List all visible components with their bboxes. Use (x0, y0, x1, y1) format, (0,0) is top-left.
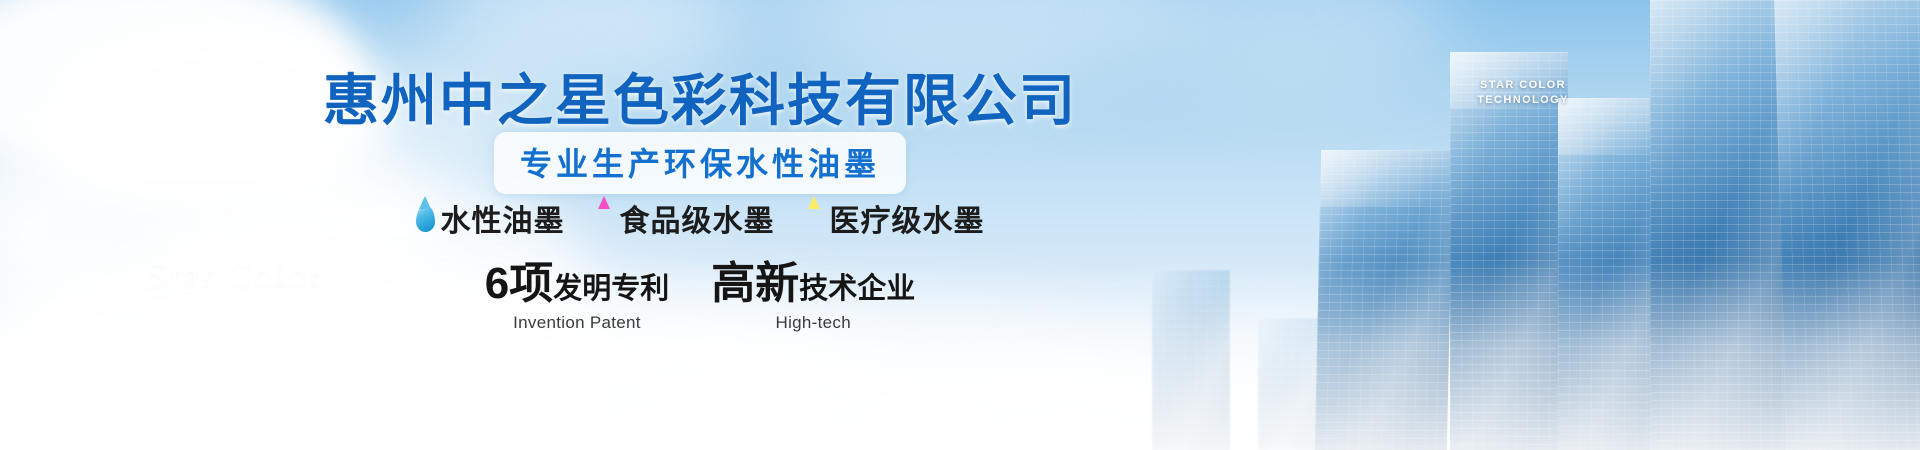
water-drop-blue-icon (416, 205, 435, 232)
building-sign: STAR COLOR TECHNOLOGY (1468, 78, 1578, 108)
badge-english-label: Invention Patent (485, 313, 670, 333)
subtitle-badge: 专业生产环保水性油墨 (494, 132, 906, 194)
credential-badge-list: 6项发明专利 Invention Patent 高新技术企业 High-tech (0, 262, 1400, 333)
page-title: 惠州中之星色彩科技有限公司 (0, 56, 1400, 137)
feature-label: 食品级水墨 (620, 196, 775, 240)
badge-suffix: 技术企业 (799, 273, 915, 305)
building-sign-line-1: STAR COLOR (1468, 78, 1578, 93)
badge-suffix: 发明专利 (553, 273, 669, 305)
badge-title: 6项发明专利 (485, 262, 670, 311)
building-sign-line-2: TECHNOLOGY (1468, 93, 1578, 108)
list-item: 食品级水墨 (595, 196, 775, 240)
credential-badge-hightech: 高新技术企业 High-tech (711, 262, 915, 333)
badge-number: 6 (485, 259, 509, 308)
credential-badge-patent: 6项发明专利 Invention Patent (485, 262, 670, 333)
subtitle-pill-wrapper: 专业生产环保水性油墨 (0, 132, 1400, 194)
badge-unit: 项 (509, 259, 553, 308)
badge-title: 高新技术企业 (711, 262, 915, 311)
list-item: 医疗级水墨 (805, 196, 985, 240)
list-item: 水性油墨 (416, 196, 565, 240)
feature-list: 水性油墨 食品级水墨 医疗级水墨 (0, 196, 1400, 240)
feature-label: 医疗级水墨 (830, 196, 985, 240)
banner-content: 惠州中之星色彩科技有限公司 专业生产环保水性油墨 水性油墨 食品级水墨 医疗级水… (0, 0, 1400, 450)
water-drop-magenta-icon (595, 205, 614, 232)
badge-unit: 高新 (711, 259, 799, 308)
feature-label: 水性油墨 (441, 196, 565, 240)
badge-english-label: High-tech (711, 313, 915, 333)
water-drop-yellow-icon (805, 205, 824, 232)
company-hero-banner: Star Color STAR COLOR TECHNOLOGY 惠州中之星色彩… (0, 0, 1920, 450)
